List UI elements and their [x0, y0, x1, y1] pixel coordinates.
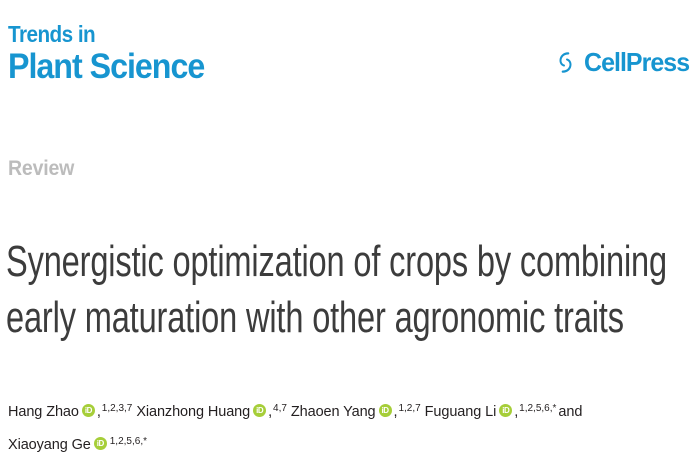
author-list: Hang Zhao,1,2,3,7 Xianzhong Huang,4,7 Zh… [8, 394, 698, 460]
journal-title-line2: Plant Science [8, 48, 394, 86]
orcid-id-icon[interactable] [94, 437, 107, 450]
author-name: Xianzhong Huang [136, 404, 250, 420]
author-separator: , [514, 404, 518, 420]
article-type-label: Review [8, 157, 74, 181]
author-separator: , [97, 404, 101, 420]
author-name: Xiaoyang Ge [8, 437, 91, 453]
journal-title-line1: Trends in [8, 22, 386, 47]
author-name: Hang Zhao [8, 404, 79, 420]
publisher-name: CellPress [584, 47, 689, 78]
author-affiliations: 1,2,5,6,* [519, 403, 556, 414]
author-affiliations: 1,2,7 [398, 403, 420, 414]
author-affiliations: 4,7 [273, 403, 287, 414]
author-affiliations: 1,2,5,6,* [110, 436, 147, 447]
article-title-line2: early maturation with other agronomic tr… [6, 290, 524, 346]
orcid-id-icon[interactable] [82, 404, 95, 417]
author-affiliations: 1,2,3,7 [102, 403, 133, 414]
author-item: Xianzhong Huang,4,7 [136, 404, 287, 420]
orcid-id-icon[interactable] [253, 404, 266, 417]
orcid-id-icon[interactable] [499, 404, 512, 417]
author-separator: , [394, 404, 398, 420]
author-item: Xiaoyang Ge1,2,5,6,* [8, 437, 147, 453]
author-name: Fuguang Li [425, 404, 497, 420]
author-item: Zhaoen Yang,1,2,7 [291, 404, 421, 420]
author-item: Fuguang Li,1,2,5,6,* [425, 404, 557, 420]
author-conjunction: and [558, 404, 582, 420]
author-separator: , [268, 404, 272, 420]
publisher-logo[interactable]: CellPress [553, 47, 694, 78]
cellpress-link-icon [553, 50, 578, 75]
author-item: Hang Zhao,1,2,3,7 [8, 404, 132, 420]
orcid-id-icon[interactable] [379, 404, 392, 417]
article-title-line1: Synergistic optimization of crops by com… [6, 234, 524, 290]
author-name: Zhaoen Yang [291, 404, 376, 420]
article-header-page: Trends in Plant Science CellPress Review… [0, 0, 700, 467]
journal-masthead: Trends in Plant Science [8, 22, 428, 86]
page-title: Synergistic optimization of crops by com… [6, 234, 524, 346]
